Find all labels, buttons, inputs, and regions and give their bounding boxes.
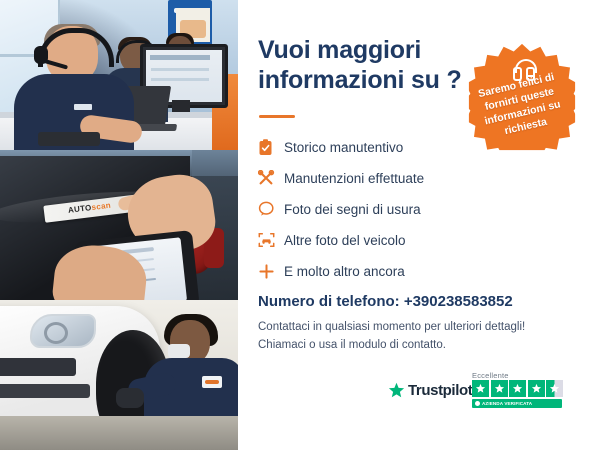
star-full-3	[509, 380, 526, 397]
trustpilot-stars	[472, 380, 563, 397]
trustpilot-brand-label: Trustpilot	[408, 382, 472, 399]
trustpilot-widget[interactable]: Trustpilot Eccellente AZIENDA VERIFICATA	[388, 372, 584, 414]
list-item: Manutenzioni effettuate	[258, 164, 488, 192]
trustpilot-rating-label: Eccellente	[472, 371, 509, 380]
photo-call-center	[0, 0, 238, 150]
phone-number-line[interactable]: Numero di telefono: +390238583852	[258, 293, 558, 310]
verified-check-icon	[475, 401, 480, 406]
star-full-2	[491, 380, 508, 397]
trustpilot-star-icon	[388, 382, 405, 399]
contact-note-line-1: Contattaci in qualsiasi momento per ulte…	[258, 318, 548, 336]
list-item-label: E molto altro ancora	[284, 264, 405, 279]
monitor-stand-decor	[172, 100, 190, 112]
star-half-5	[546, 380, 563, 397]
photo-column: AUTOscan	[0, 0, 238, 450]
content-panel: Vuoi maggiori informazioni su ? Saremo f…	[238, 0, 600, 450]
trustpilot-logo: Trustpilot	[388, 382, 472, 399]
star-full-1	[472, 380, 489, 397]
list-item-label: Foto dei segni di usura	[284, 202, 421, 217]
headlight-decor	[30, 314, 96, 348]
lower-grille-decor	[0, 384, 90, 398]
comment-bubble-icon	[258, 201, 284, 217]
photo-mechanic-wheel	[0, 300, 238, 450]
list-item: E molto altro ancora	[258, 257, 488, 285]
verified-company-badge: AZIENDA VERIFICATA	[472, 399, 562, 408]
title-underline-rule	[259, 115, 295, 118]
tools-cross-icon	[258, 170, 284, 187]
list-item: Altre foto del veicolo	[258, 226, 488, 254]
tablet-decor	[38, 132, 100, 146]
page-title: Vuoi maggiori informazioni su ?	[258, 35, 478, 95]
lift-platform-decor	[0, 416, 238, 450]
verified-company-label: AZIENDA VERIFICATA	[482, 401, 532, 406]
car-scan-icon	[258, 232, 284, 248]
plus-icon	[258, 263, 284, 280]
list-item: Foto dei segni di usura	[258, 195, 488, 223]
list-item-label: Altre foto del veicolo	[284, 233, 406, 248]
list-item: Storico manutentivo	[258, 133, 488, 161]
star-full-4	[528, 380, 545, 397]
contact-note: Contattaci in qualsiasi momento per ulte…	[258, 318, 548, 354]
clipboard-check-icon	[258, 139, 284, 156]
list-item-label: Manutenzioni effettuate	[284, 171, 424, 186]
promo-banner: AUTOscan Vuoi maggiori informazi	[0, 0, 600, 450]
list-item-label: Storico manutentivo	[284, 140, 403, 155]
grille-decor	[0, 358, 76, 376]
photo-sticker-on-car: AUTOscan	[0, 150, 238, 300]
feature-list: Storico manutentivo Manutenzioni effettu…	[258, 133, 488, 288]
contact-note-line-2: Chiamaci o usa il modulo di contatto.	[258, 336, 548, 354]
